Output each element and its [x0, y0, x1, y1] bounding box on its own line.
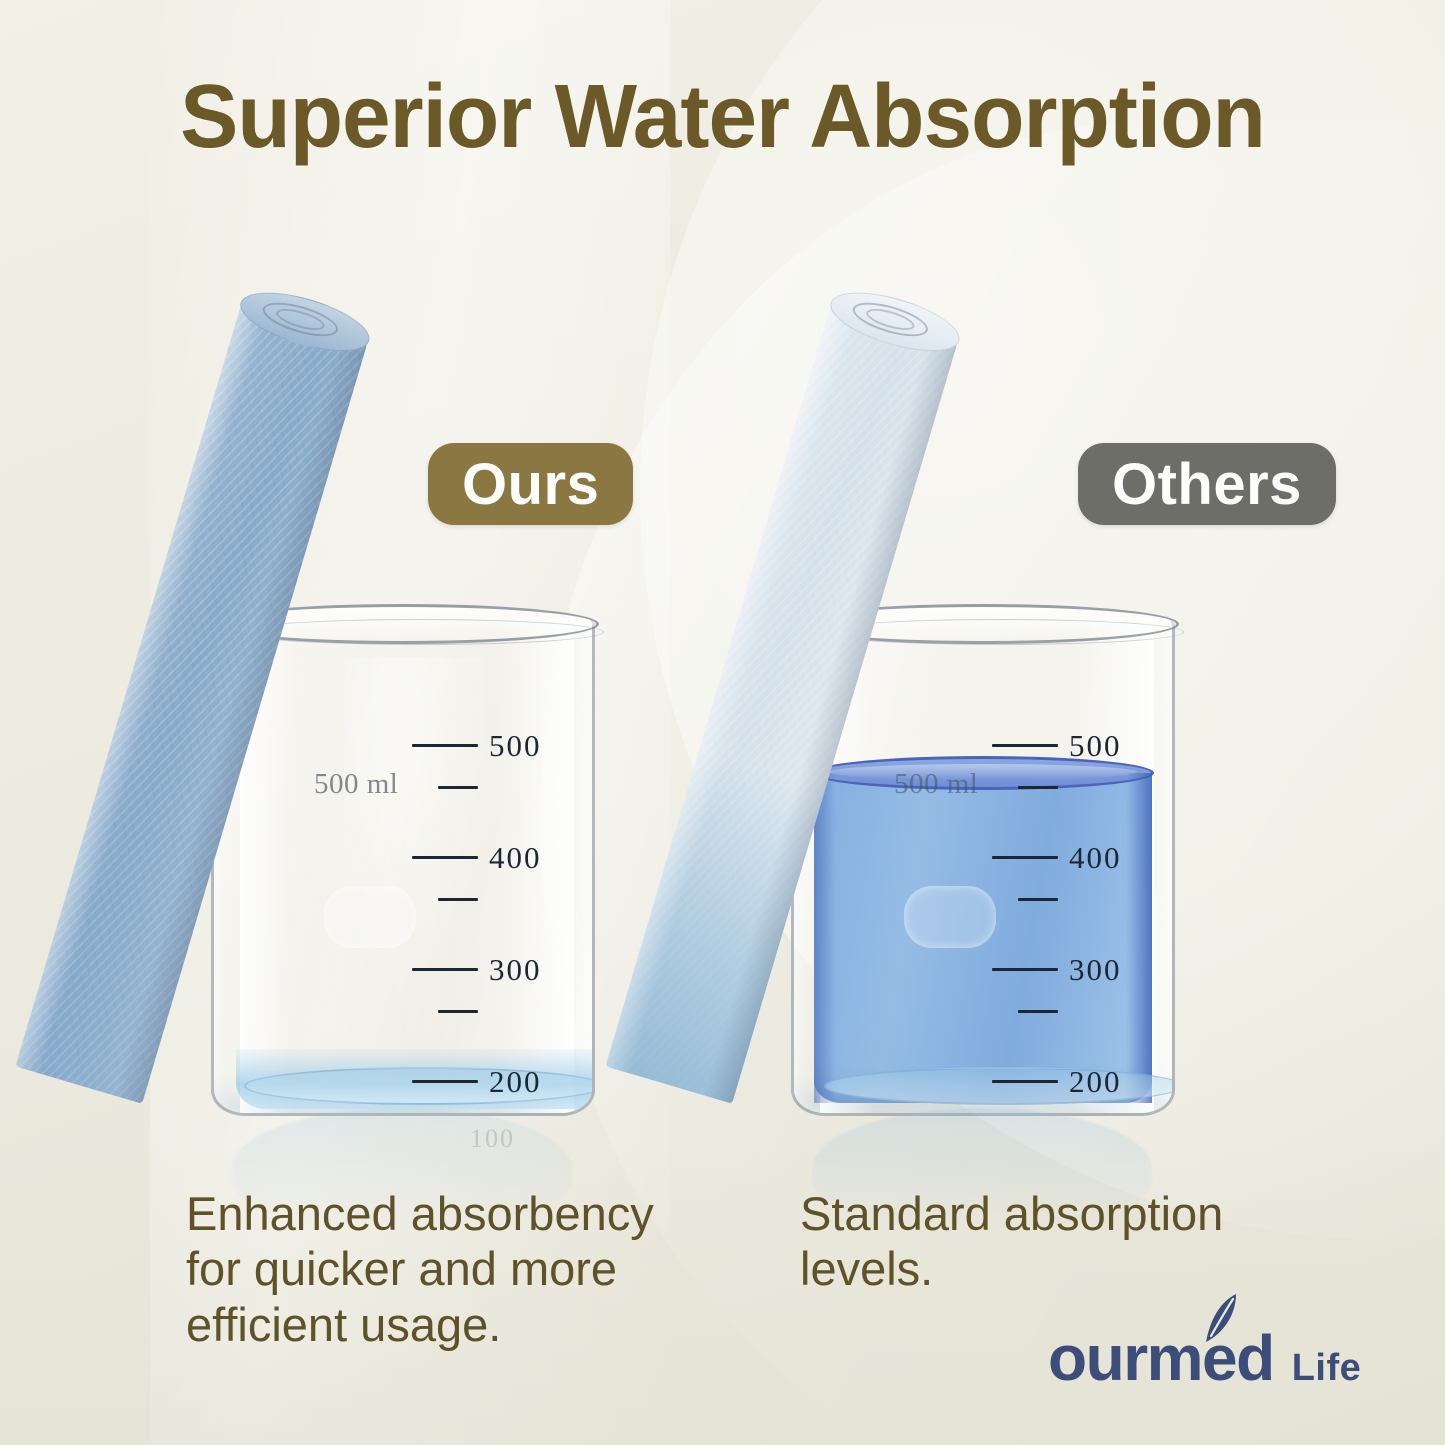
- graduation-major: 400: [992, 842, 1122, 873]
- graduation-minor: [992, 898, 1058, 901]
- graduation-minor: [412, 1010, 478, 1013]
- graduation-minor: [992, 1010, 1058, 1013]
- caption-ours: Enhanced absorbency for quicker and more…: [186, 1186, 716, 1352]
- graduation-major: 500: [412, 730, 542, 761]
- panel-ours: 500 ml 500 400 300 200 100: [0, 0, 722, 1445]
- beaker-rim-inner: [236, 619, 604, 645]
- badge-ours-label: Ours: [462, 451, 599, 518]
- brand-logo: ourmed Life: [1048, 1326, 1361, 1390]
- caption-others: Standard absorption levels.: [800, 1186, 1300, 1297]
- reflection-ghost-number: 100: [470, 1124, 515, 1154]
- badge-ours: Ours: [428, 443, 633, 525]
- graduation-major: 400: [412, 842, 542, 873]
- leaf-icon: [1200, 1292, 1240, 1344]
- beaker-graduations: 500 400 300 200 100: [214, 618, 592, 1113]
- graduation-major: 500: [992, 730, 1122, 761]
- graduation-major: 300: [412, 954, 542, 985]
- logo-suffix: Life: [1292, 1349, 1362, 1387]
- panel-others: 500 ml 500 400 300 200 100: [723, 0, 1445, 1445]
- graduation-major: 200: [992, 1066, 1122, 1097]
- badge-others: Others: [1078, 443, 1336, 525]
- graduation-minor: [412, 898, 478, 901]
- badge-others-label: Others: [1112, 451, 1302, 518]
- graduation-minor: [992, 786, 1058, 789]
- beaker-body: 500 ml 500 400 300 200 100: [211, 618, 595, 1116]
- graduation-major: 300: [992, 954, 1122, 985]
- graduation-minor: [412, 786, 478, 789]
- graduation-major: 200: [412, 1066, 542, 1097]
- infographic-canvas: Superior Water Absorption 500 ml 500 400…: [0, 0, 1445, 1445]
